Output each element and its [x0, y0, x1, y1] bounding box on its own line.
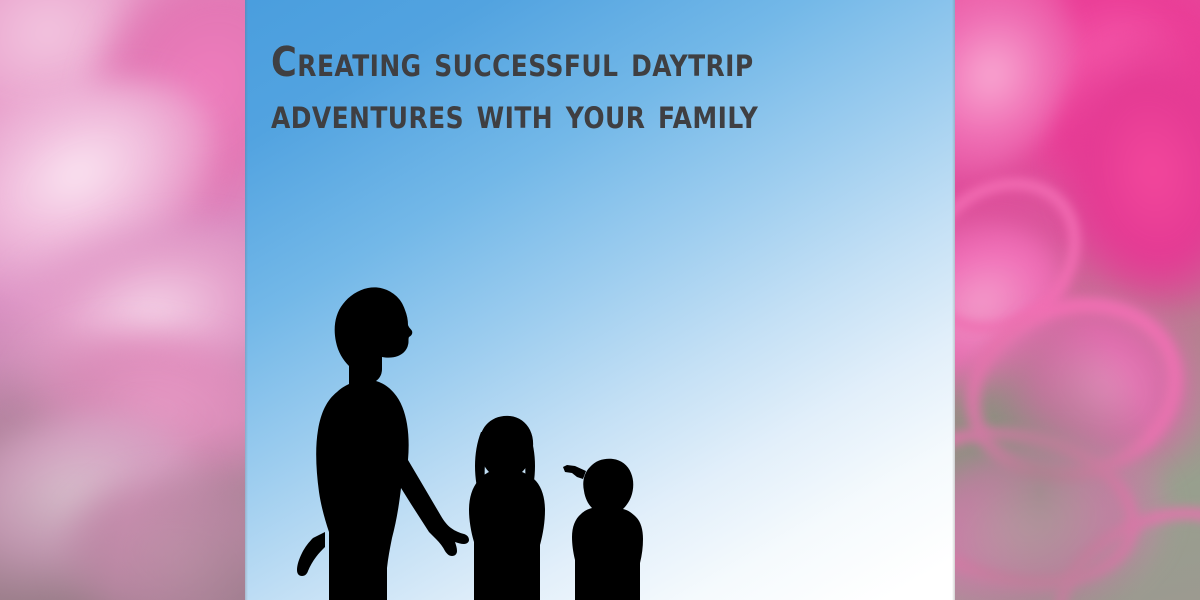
- book-cover-image: GETTING OUT Creating successful daytrip …: [0, 0, 1200, 600]
- cover-panel: GETTING OUT Creating successful daytrip …: [245, 0, 955, 600]
- child-figure-girl: [469, 416, 545, 600]
- cover-title: GETTING OUT: [271, 0, 799, 6]
- child-figure-toddler: [563, 459, 643, 600]
- panel-seam-right: [952, 0, 955, 600]
- left-photo-shading: [0, 0, 248, 600]
- panel-seam-left: [245, 0, 248, 600]
- adult-figure: [297, 287, 469, 600]
- cover-subtitle: Creating successful daytrip adventures w…: [271, 36, 839, 141]
- cover-subtitle-line-1: Creating successful daytrip: [271, 36, 839, 88]
- floral-photo-left: [0, 0, 248, 600]
- floral-photo-right: [954, 0, 1200, 600]
- cover-subtitle-line-2: adventures with your family: [271, 88, 839, 140]
- family-silhouette-artwork: [245, 270, 955, 600]
- right-photo-shading: [954, 0, 1200, 600]
